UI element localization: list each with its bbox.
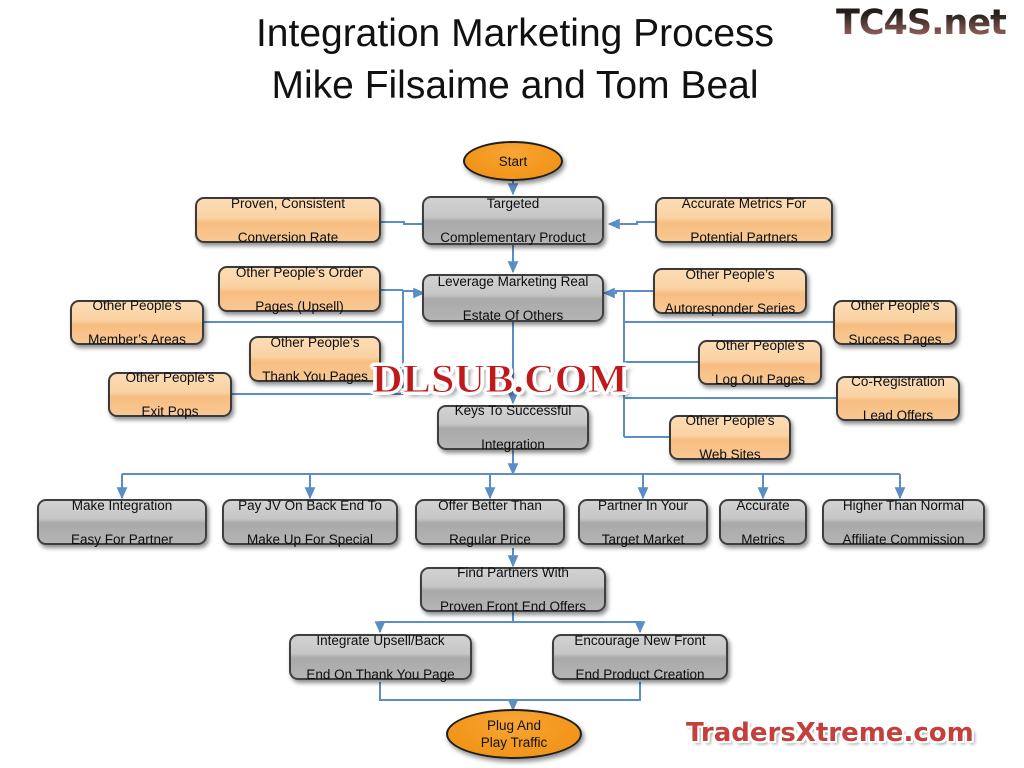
node-log-out-line2: Log Out Pages <box>705 371 815 388</box>
node-encourage-new-line1: Encourage New Front <box>559 632 721 649</box>
node-plug-play-line2: Play Traffic <box>481 735 548 750</box>
node-other-peoples-exit-pops[interactable]: Other People’s Exit Pops <box>108 372 232 417</box>
node-make-integration-easy-for-partner[interactable]: Make Integration Easy For Partner <box>37 499 207 545</box>
tc4s-logo-watermark: TC4S.net <box>836 4 1006 42</box>
conn-integrate-to-plug <box>380 682 513 710</box>
node-pay-jv-on-back-end[interactable]: Pay JV On Back End To Make Up For Specia… <box>222 499 398 545</box>
node-pay-jv-line2: Make Up For Special <box>229 531 391 548</box>
node-other-peoples-web-sites[interactable]: Other People’s Web Sites <box>669 415 791 460</box>
node-offer-better-than-regular-price[interactable]: Offer Better Than Regular Price <box>415 499 565 545</box>
node-exit-pops-line1: Other People’s <box>115 369 225 386</box>
node-find-partners-line2: Proven Front End Offers <box>427 598 599 615</box>
node-other-peoples-success-pages[interactable]: Other People’s Success Pages <box>833 300 957 345</box>
node-proven-line2: Conversion Rate <box>202 229 374 246</box>
node-targeted-complementary-product[interactable]: Targeted Complementary Product <box>422 196 604 245</box>
node-leverage-line1: Leverage Marketing Real <box>429 273 597 290</box>
title-line-2: Mike Filsaime and Tom Beal <box>120 60 910 112</box>
node-partner-market-line2: Target Market <box>585 531 701 548</box>
title-line-1: Integration Marketing Process <box>120 8 910 60</box>
node-other-peoples-order-pages[interactable]: Other People’s Order Pages (Upsell) <box>218 266 381 312</box>
node-offer-better-line1: Offer Better Than <box>422 497 558 514</box>
node-other-peoples-log-out-pages[interactable]: Other People’s Log Out Pages <box>698 340 822 385</box>
page-title: Integration Marketing Process Mike Filsa… <box>120 8 910 112</box>
node-log-out-line1: Other People’s <box>705 337 815 354</box>
dlsub-watermark: DLSUB.COM <box>372 358 628 400</box>
node-leverage-marketing-real-estate[interactable]: Leverage Marketing Real Estate Of Others <box>422 274 604 322</box>
node-proven-line1: Proven, Consistent <box>202 195 374 212</box>
node-web-sites-line2: Web Sites <box>676 446 784 463</box>
tradersxtreme-watermark: TradersXtreme.com <box>686 718 974 748</box>
node-other-peoples-autoresponder-series[interactable]: Other People’s Autoresponder Series <box>653 268 807 314</box>
node-pay-jv-line1: Pay JV On Back End To <box>229 497 391 514</box>
node-accurate-metrics[interactable]: Accurate Metrics <box>719 499 807 545</box>
node-partner-in-your-target-market[interactable]: Partner In Your Target Market <box>578 499 708 545</box>
node-co-registration-lead-offers[interactable]: Co-Registration Lead Offers <box>836 376 960 421</box>
node-keys-to-successful-integration[interactable]: Keys To Successful Integration <box>437 405 589 450</box>
node-encourage-new-line2: End Product Creation <box>559 666 721 683</box>
node-keys-line2: Integration <box>444 436 582 453</box>
node-metrics-partners-line2: Potential Partners <box>662 229 826 246</box>
node-find-partners-line1: Find Partners With <box>427 564 599 581</box>
node-integrate-upsell-back-end[interactable]: Integrate Upsell/Back End On Thank You P… <box>289 634 472 680</box>
node-success-pages-line1: Other People’s <box>840 297 950 314</box>
node-offer-better-line2: Regular Price <box>422 531 558 548</box>
node-find-partners-with-proven-front-end-offers[interactable]: Find Partners With Proven Front End Offe… <box>420 567 606 612</box>
node-metrics-partners-line1: Accurate Metrics For <box>662 195 826 212</box>
node-partner-market-line1: Partner In Your <box>585 497 701 514</box>
node-accurate-metrics-for-potential-partners[interactable]: Accurate Metrics For Potential Partners <box>655 197 833 243</box>
node-plug-and-play-traffic[interactable]: Plug And Play Traffic <box>446 709 582 759</box>
node-make-integration-line1: Make Integration <box>44 497 200 514</box>
node-other-peoples-thank-you-pages[interactable]: Other People’s Thank You Pages <box>249 336 381 382</box>
node-order-pages-line1: Other People’s Order <box>225 264 374 281</box>
node-proven-consistent-conversion-rate[interactable]: Proven, Consistent Conversion Rate <box>195 197 381 243</box>
node-members-areas-line1: Other People’s <box>77 297 197 314</box>
node-accurate-metrics-line2: Metrics <box>726 531 800 548</box>
node-integrate-upsell-line1: Integrate Upsell/Back <box>296 632 465 649</box>
node-start[interactable]: Start <box>463 141 563 181</box>
node-exit-pops-line2: Exit Pops <box>115 403 225 420</box>
node-keys-line1: Keys To Successful <box>444 402 582 419</box>
node-autoresponder-line1: Other People’s <box>660 266 800 283</box>
conn-left-trunk-to-leverage <box>403 291 424 293</box>
node-coreg-line2: Lead Offers <box>843 407 953 424</box>
node-members-areas-line2: Member’s Areas <box>77 331 197 348</box>
node-order-pages-line2: Pages (Upsell) <box>225 298 374 315</box>
node-higher-than-normal-affiliate-commission[interactable]: Higher Than Normal Affiliate Commission <box>822 499 985 545</box>
node-coreg-line1: Co-Registration <box>843 373 953 390</box>
node-leverage-line2: Estate Of Others <box>429 307 597 324</box>
node-success-pages-line2: Success Pages <box>840 331 950 348</box>
node-web-sites-line1: Other People’s <box>676 412 784 429</box>
node-targeted-line1: Targeted <box>429 195 597 212</box>
node-start-label: Start <box>499 153 528 170</box>
node-other-peoples-members-areas[interactable]: Other People’s Member’s Areas <box>70 300 204 345</box>
node-encourage-new-front-end-product-creation[interactable]: Encourage New Front End Product Creation <box>552 634 728 680</box>
flowchart-canvas: Integration Marketing Process Mike Filsa… <box>0 0 1024 768</box>
node-higher-affiliate-line1: Higher Than Normal <box>829 497 978 514</box>
node-make-integration-line2: Easy For Partner <box>44 531 200 548</box>
conn-encourage-to-plug <box>513 682 640 700</box>
node-thank-you-line2: Thank You Pages <box>256 368 374 385</box>
node-autoresponder-line2: Autoresponder Series <box>660 300 800 317</box>
node-integrate-upsell-line2: End On Thank You Page <box>296 666 465 683</box>
conn-right-trunk-to-leverage <box>604 291 624 293</box>
node-higher-affiliate-line2: Affiliate Commission <box>829 531 978 548</box>
node-accurate-metrics-line1: Accurate <box>726 497 800 514</box>
node-targeted-line2: Complementary Product <box>429 229 597 246</box>
node-thank-you-line1: Other People’s <box>256 334 374 351</box>
node-plug-play-line1: Plug And <box>487 718 541 733</box>
conn-metrics-to-targeted <box>609 222 657 224</box>
